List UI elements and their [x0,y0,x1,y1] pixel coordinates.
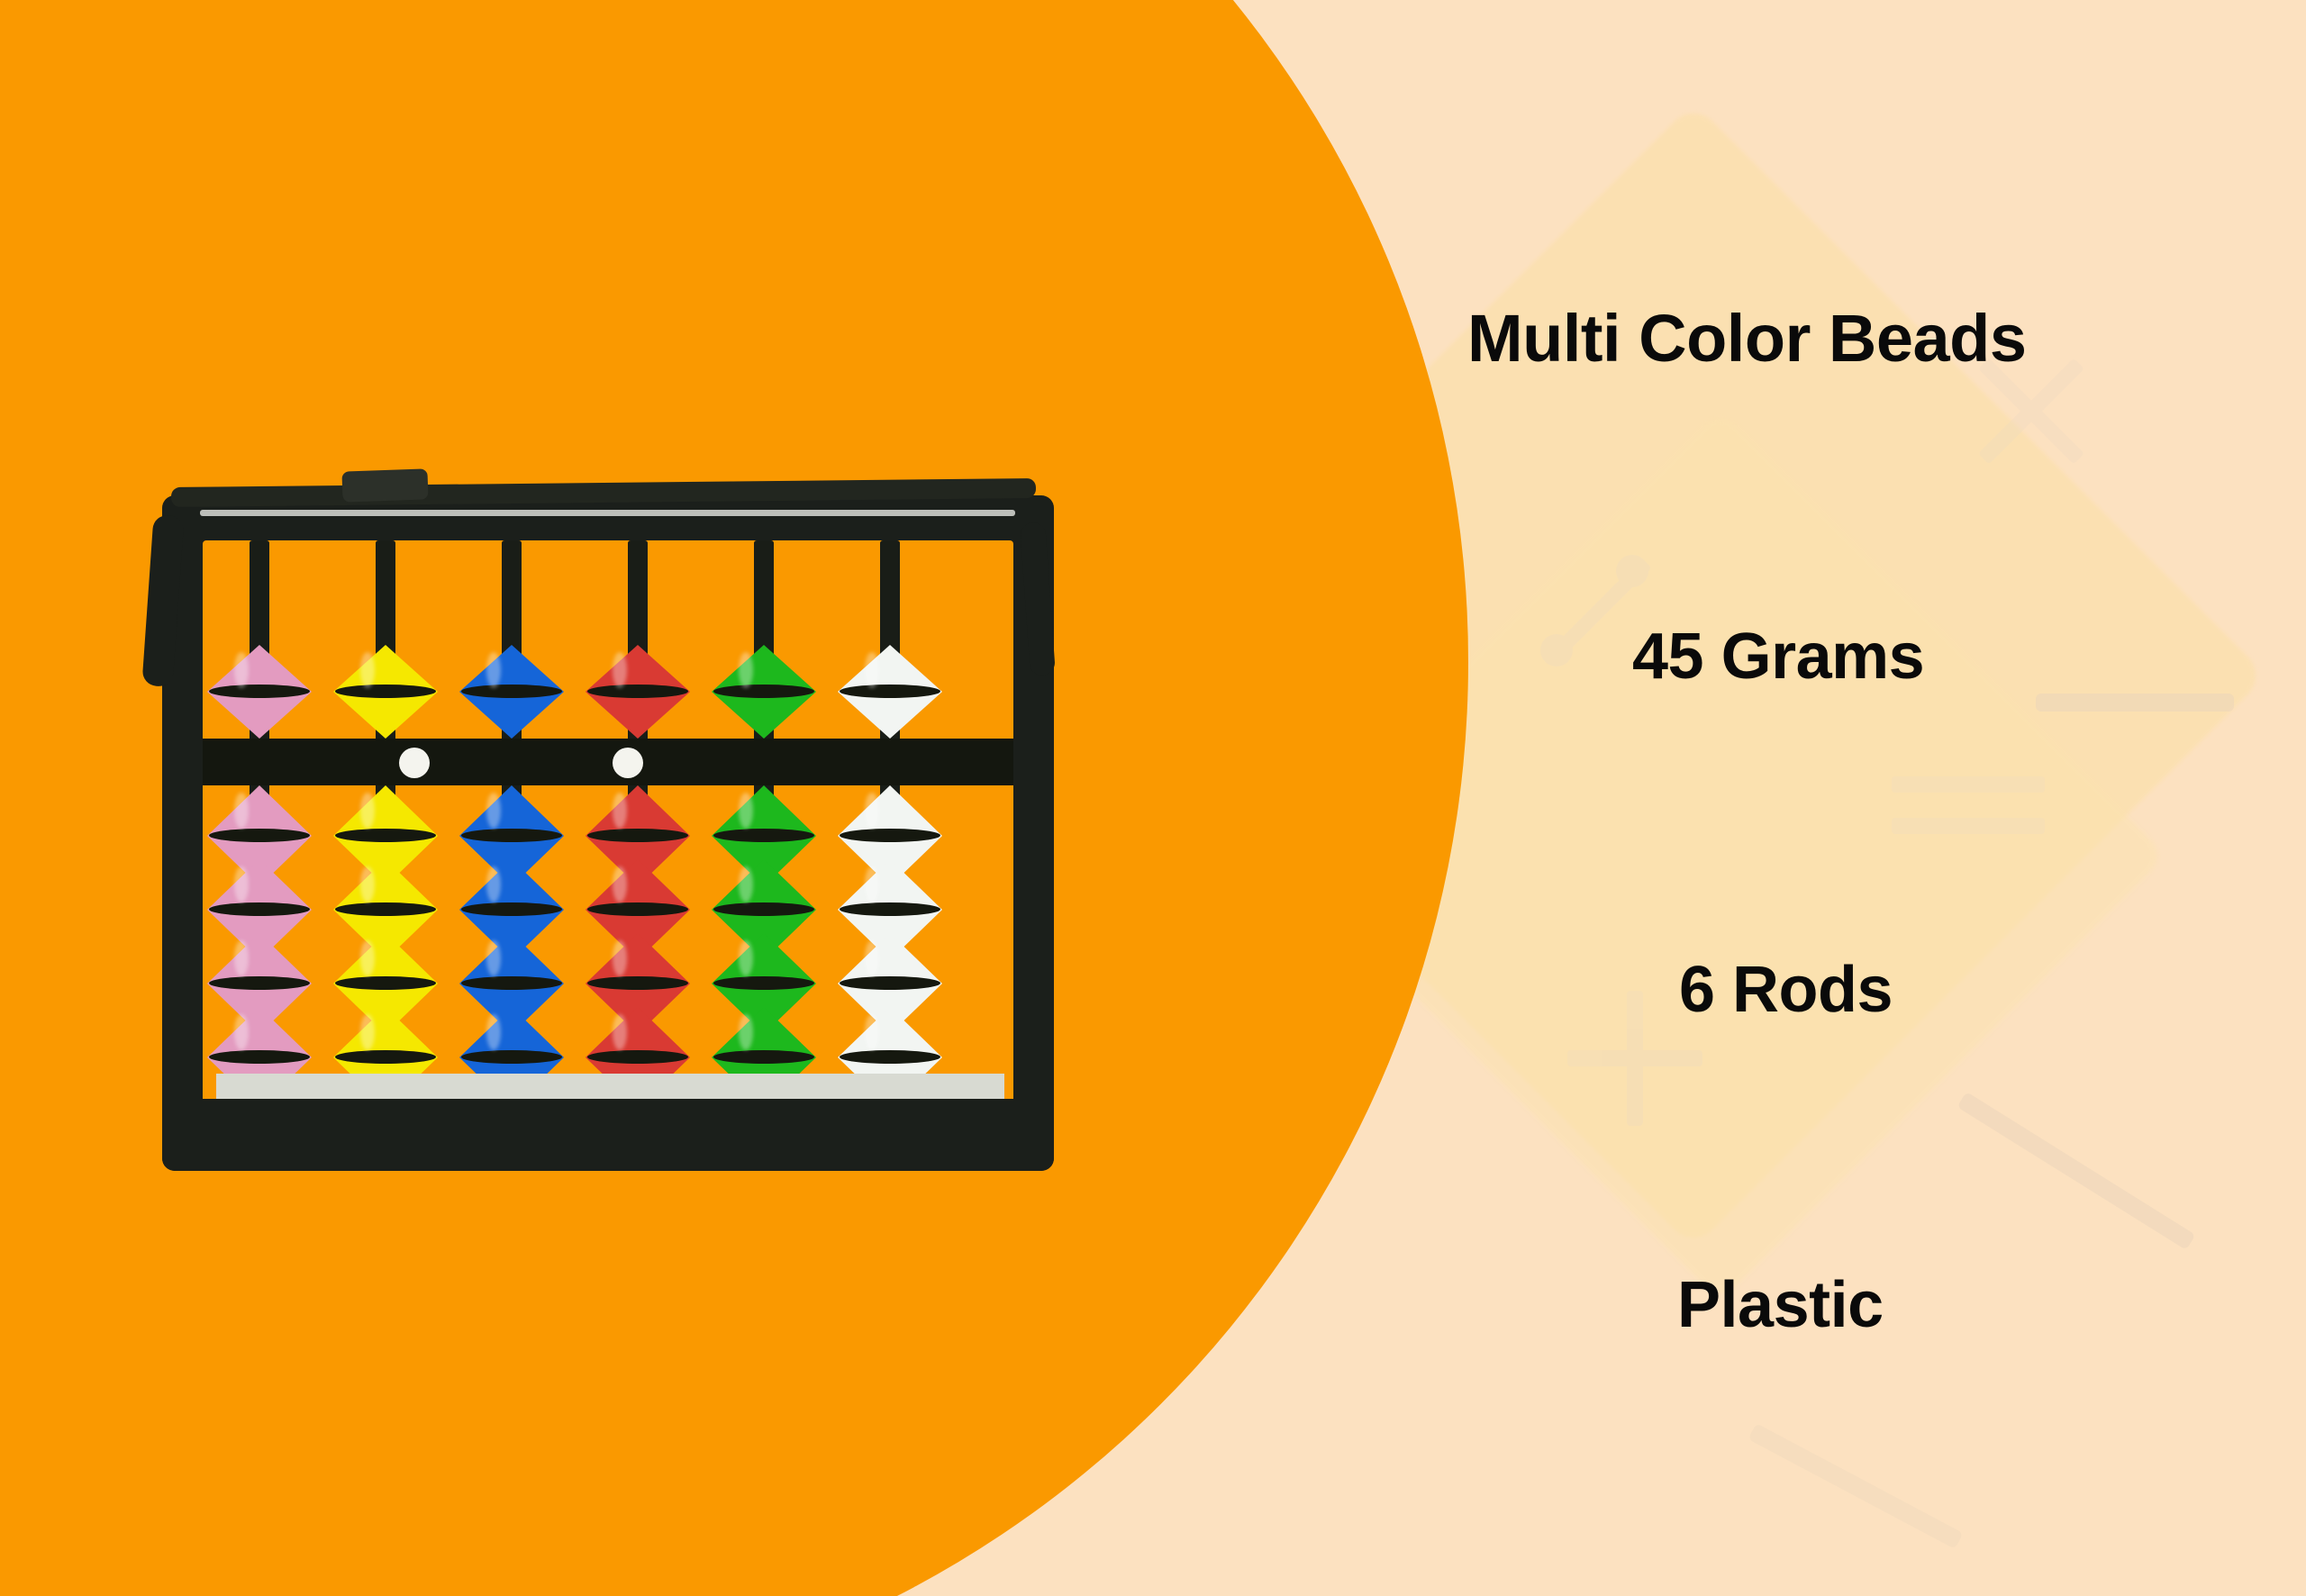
bead-ring [335,685,436,698]
bead-ring [209,1050,310,1064]
abacus-bead [459,645,564,739]
bead-gloss [613,866,627,902]
spec-weight-label: 45 Grams [1632,620,1924,694]
strap-clip [341,468,428,502]
bead-ring [461,902,562,916]
bead-ring [713,976,814,990]
bead-ring [840,829,940,842]
bead-gloss [613,652,627,688]
bead-cone-lower [459,692,564,739]
bead-ring [209,976,310,990]
abacus-bead [207,645,312,739]
bead-ring [587,685,688,698]
bead-ring [587,902,688,916]
horizontal-line-watermark [2036,694,2234,712]
spec-material-label: Plastic [1677,1268,1884,1342]
bead-gloss [234,940,249,976]
bead-gloss [486,940,501,976]
bead-ring [335,829,436,842]
bead-ring [335,1050,436,1064]
product-spec-banner: Multi Color Beads 45 Grams 6 Rods Plasti… [0,0,2306,1596]
bead-ring [840,1050,940,1064]
bead-ring [713,685,814,698]
bead-ring [713,902,814,916]
bead-gloss [865,940,879,976]
bead-ring [461,1050,562,1064]
bead-ring [587,976,688,990]
bead-gloss [613,940,627,976]
bead-gloss [360,1014,375,1050]
abacus-bead [333,645,438,739]
bead-cone-lower [333,692,438,739]
abacus-bead [838,645,942,739]
bead-cone-lower [712,692,816,739]
page-title: Multi Color Beads [1467,300,2027,376]
bead-ring [840,685,940,698]
abacus-bead [586,645,690,739]
bead-ring [461,976,562,990]
bead-gloss [613,793,627,829]
abacus-bottom-rail [216,1074,1004,1101]
bead-ring [335,902,436,916]
bead-gloss [739,940,753,976]
bead-gloss [234,793,249,829]
bead-gloss [865,866,879,902]
bead-ring [209,902,310,916]
divider-marker-dot [399,748,430,778]
bead-gloss [865,1014,879,1050]
abacus-divider-bar [203,739,1013,785]
frame-top-highlight [200,510,1015,516]
bead-ring [209,685,310,698]
abacus-bottom-bar [162,1099,1054,1171]
bead-gloss [486,652,501,688]
divider-marker-dot [613,748,643,778]
bead-gloss [739,793,753,829]
bead-cone-lower [586,692,690,739]
abacus-bead [712,645,816,739]
bead-gloss [739,1014,753,1050]
abacus-product-image [153,468,1063,1171]
bead-ring [587,829,688,842]
bead-ring [840,902,940,916]
bead-gloss [865,793,879,829]
bead-ring [461,829,562,842]
bead-ring [209,829,310,842]
bead-gloss [234,1014,249,1050]
bead-gloss [234,652,249,688]
bead-cone-lower [838,692,942,739]
bead-gloss [486,1014,501,1050]
bead-gloss [865,652,879,688]
bead-gloss [739,866,753,902]
bead-gloss [486,793,501,829]
bead-gloss [739,652,753,688]
bead-ring [587,1050,688,1064]
spec-rod-count-label: 6 Rods [1679,953,1893,1027]
bead-gloss [613,1014,627,1050]
bead-gloss [360,940,375,976]
bead-ring [461,685,562,698]
bead-gloss [360,866,375,902]
bead-gloss [360,793,375,829]
bead-ring [335,976,436,990]
bead-gloss [486,866,501,902]
bead-gloss [360,652,375,688]
bead-gloss [234,866,249,902]
bead-ring [840,976,940,990]
bead-cone-lower [207,692,312,739]
bead-ring [713,829,814,842]
bead-ring [713,1050,814,1064]
